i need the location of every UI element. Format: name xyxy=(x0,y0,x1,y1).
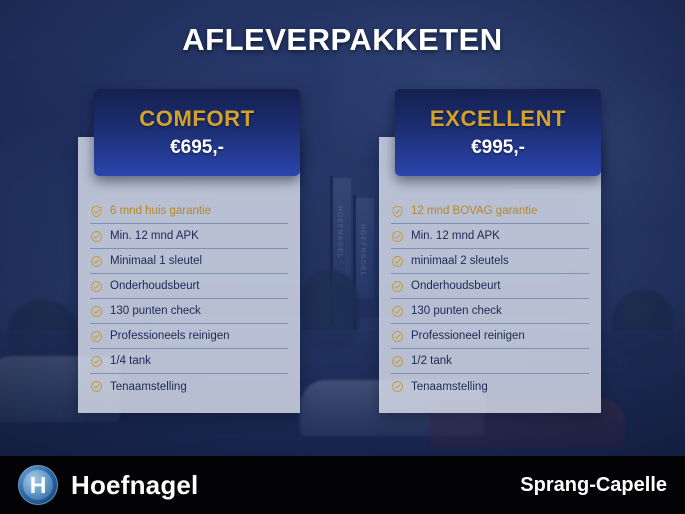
list-item: Professioneel reinigen xyxy=(391,324,589,349)
list-item-label: 12 mnd BOVAG garantie xyxy=(411,205,537,217)
circle-check-icon xyxy=(90,280,103,293)
list-item-label: Professioneels reinigen xyxy=(110,330,230,342)
list-item-label: Professioneel reinigen xyxy=(411,330,525,342)
circle-check-icon xyxy=(90,305,103,318)
package-header: COMFORT €695,- xyxy=(94,89,300,176)
list-item-label: 6 mnd huis garantie xyxy=(110,205,211,217)
list-item: 130 punten check xyxy=(391,299,589,324)
list-item-label: minimaal 2 sleutels xyxy=(411,255,509,267)
list-item-label: 130 punten check xyxy=(110,305,201,317)
brand-name: Hoefnagel xyxy=(71,470,198,501)
brand-block: H Hoefnagel xyxy=(18,465,198,505)
list-item: 1/4 tank xyxy=(90,349,288,374)
circle-check-icon xyxy=(391,255,404,268)
logo-inner-ring: H xyxy=(23,470,53,500)
list-item: minimaal 2 sleutels xyxy=(391,249,589,274)
feature-list: 6 mnd huis garantie Min. 12 mnd APK Mini… xyxy=(78,199,300,399)
list-item: 130 punten check xyxy=(90,299,288,324)
shield-check-icon xyxy=(90,205,103,218)
package-price: €695,- xyxy=(170,137,224,159)
circle-check-icon xyxy=(391,355,404,368)
circle-check-icon xyxy=(90,230,103,243)
list-item: 1/2 tank xyxy=(391,349,589,374)
list-item: Min. 12 mnd APK xyxy=(391,224,589,249)
circle-check-icon xyxy=(90,330,103,343)
circle-check-icon xyxy=(391,280,404,293)
list-item-label: Onderhoudsbeurt xyxy=(411,280,501,292)
circle-check-icon xyxy=(391,330,404,343)
circle-check-icon xyxy=(90,355,103,368)
list-item-label: Min. 12 mnd APK xyxy=(411,230,500,242)
hoefnagel-logo-icon: H xyxy=(18,465,58,505)
list-item-label: 130 punten check xyxy=(411,305,502,317)
list-item: Min. 12 mnd APK xyxy=(90,224,288,249)
list-item-label: Tenaamstelling xyxy=(110,381,187,393)
list-item: Onderhoudsbeurt xyxy=(90,274,288,299)
feature-list: 12 mnd BOVAG garantie Min. 12 mnd APK mi… xyxy=(379,199,601,399)
package-card-comfort: COMFORT €695,- 6 mnd huis garantie Min. … xyxy=(78,137,300,413)
list-item-label: 1/4 tank xyxy=(110,355,151,367)
circle-check-icon xyxy=(90,255,103,268)
list-item: 12 mnd BOVAG garantie xyxy=(391,199,589,224)
list-item: Minimaal 1 sleutel xyxy=(90,249,288,274)
list-item-label: Tenaamstelling xyxy=(411,381,488,393)
list-item-label: Min. 12 mnd APK xyxy=(110,230,199,242)
list-item-label: 1/2 tank xyxy=(411,355,452,367)
list-item: 6 mnd huis garantie xyxy=(90,199,288,224)
list-item: Professioneels reinigen xyxy=(90,324,288,349)
package-price: €995,- xyxy=(471,137,525,159)
circle-check-icon xyxy=(90,380,103,393)
poster-canvas: HOEFNAGEL HOEFNAGEL AFLEVERPAKKETEN COMF… xyxy=(0,0,685,514)
list-item: Tenaamstelling xyxy=(391,374,589,399)
list-item-label: Minimaal 1 sleutel xyxy=(110,255,202,267)
circle-check-icon xyxy=(391,380,404,393)
list-item-label: Onderhoudsbeurt xyxy=(110,280,200,292)
package-header: EXCELLENT €995,- xyxy=(395,89,601,176)
list-item: Onderhoudsbeurt xyxy=(391,274,589,299)
footer-bar: H Hoefnagel Sprang-Capelle xyxy=(0,456,685,514)
page-title: AFLEVERPAKKETEN xyxy=(0,22,685,58)
package-name: COMFORT xyxy=(139,106,254,132)
shield-check-icon xyxy=(391,205,404,218)
location-label: Sprang-Capelle xyxy=(520,474,667,497)
list-item: Tenaamstelling xyxy=(90,374,288,399)
package-card-excellent: EXCELLENT €995,- 12 mnd BOVAG garantie M… xyxy=(379,137,601,413)
logo-letter: H xyxy=(30,474,47,497)
circle-check-icon xyxy=(391,305,404,318)
circle-check-icon xyxy=(391,230,404,243)
package-name: EXCELLENT xyxy=(430,106,566,132)
